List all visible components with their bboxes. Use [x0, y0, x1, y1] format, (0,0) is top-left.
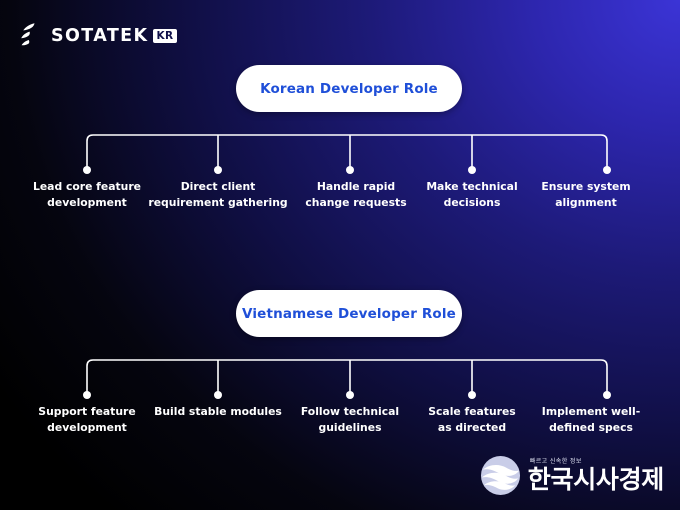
press-logo: 빠르고 신속한 정보 한국시사경제 — [480, 455, 664, 496]
role-item: Follow technical guidelines — [280, 404, 420, 435]
role-pill-label: Korean Developer Role — [260, 81, 438, 97]
role-item: Lead core feature development — [17, 179, 157, 210]
brand-name: SOTATEK — [51, 26, 149, 46]
role-item: Implement well- defined specs — [521, 404, 661, 435]
connector-tree-korean — [0, 127, 680, 175]
sotatek-mark-icon — [18, 22, 44, 50]
press-logo-texts: 빠르고 신속한 정보 한국시사경제 — [528, 459, 664, 492]
brand-wordmark: SOTATEK KR — [51, 26, 177, 46]
role-pill-label: Vietnamese Developer Role — [242, 306, 456, 322]
infographic-canvas: SOTATEK KR Korean Developer Role Lead co… — [0, 0, 680, 510]
role-pill-korean: Korean Developer Role — [236, 65, 462, 112]
role-item: Support feature development — [17, 404, 157, 435]
role-item: Ensure system alignment — [516, 179, 656, 210]
role-item: Build stable modules — [148, 404, 288, 420]
role-item: Direct client requirement gathering — [148, 179, 288, 210]
press-name: 한국시사경제 — [528, 467, 664, 492]
brand-badge-kr: KR — [153, 29, 178, 43]
wave-circle-icon — [480, 455, 521, 496]
role-items-vietnamese: Support feature development Build stable… — [0, 404, 680, 450]
role-pill-vietnamese: Vietnamese Developer Role — [236, 290, 462, 337]
role-items-korean: Lead core feature development Direct cli… — [0, 179, 680, 225]
brand-logo: SOTATEK KR — [18, 22, 177, 50]
connector-tree-vietnamese — [0, 352, 680, 400]
